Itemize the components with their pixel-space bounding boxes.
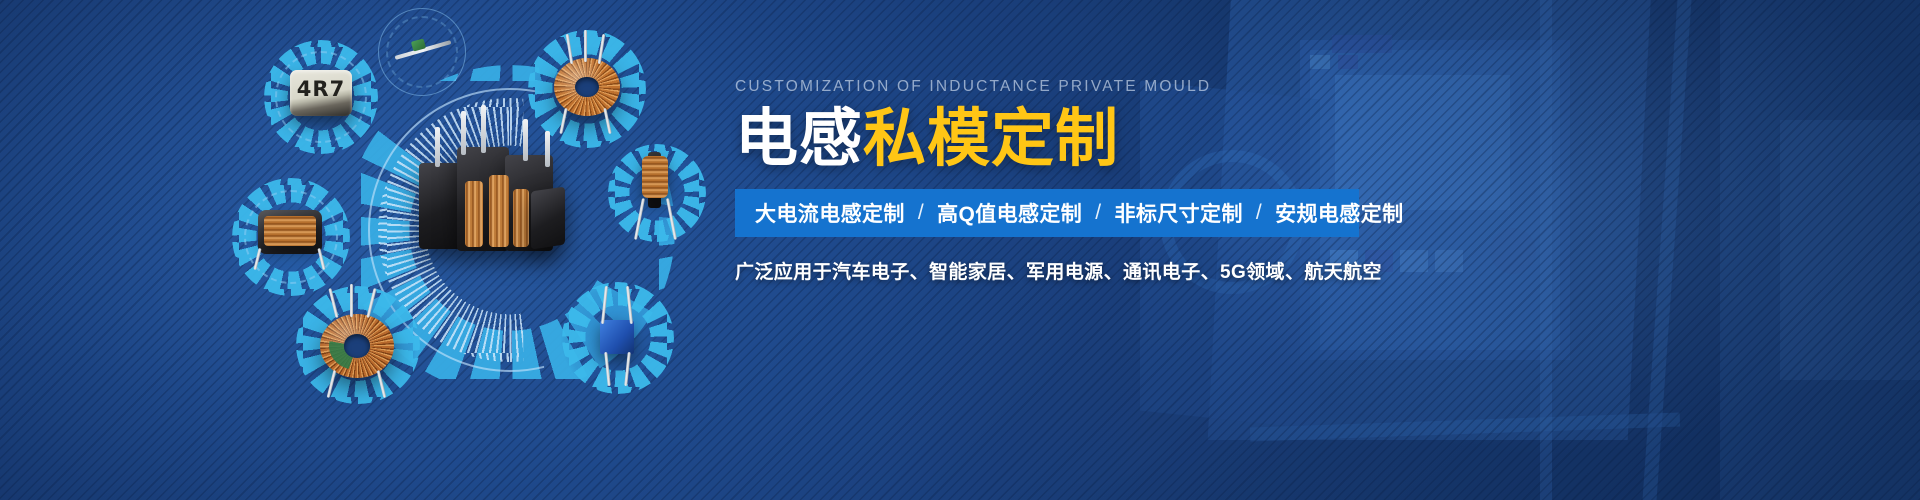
green-toroid-body — [320, 314, 394, 378]
rod-coil — [642, 156, 668, 198]
banner-title-white: 电感 — [735, 104, 863, 174]
promo-banner: 4R7 — [0, 0, 1920, 500]
transformer-pin — [435, 127, 440, 167]
banner-description: 广泛应用于汽车电子、智能家居、军用电源、通讯电子、5G领域、航天航空 — [735, 257, 1375, 284]
transformer-pin — [461, 111, 466, 155]
transformer-pin — [481, 105, 486, 153]
banner-title: 电感私模定制 — [735, 106, 1375, 173]
product-high-current-transformer-cluster — [405, 105, 585, 280]
banner-title-yellow: 私模定制 — [863, 104, 1119, 174]
transformer-pin — [545, 131, 550, 167]
copper-winding — [465, 181, 483, 247]
banner-eyebrow: CUSTOMIZATION OF INDUCTANCE PRIVATE MOUL… — [735, 78, 1375, 96]
product-thin-film-inductor — [378, 8, 466, 96]
feature-list: 大电流电感定制 / 高Q值电感定制 / 非标尺寸定制 / 安规电感定制 — [755, 198, 1404, 228]
copper-winding — [513, 189, 529, 247]
transformer-side-block — [531, 187, 565, 250]
product-green-toroidal-inductor — [296, 286, 420, 404]
drum-coil — [264, 216, 316, 246]
product-drum-core-inductor — [232, 178, 350, 296]
smd-chip-body: 4R7 — [290, 70, 352, 116]
smd-chip-label: 4R7 — [297, 77, 345, 101]
feature-bar: 大电流电感定制 / 高Q值电感定制 / 非标尺寸定制 / 安规电感定制 — [735, 189, 1359, 237]
lead-wire — [584, 30, 587, 62]
feature-item-2[interactable]: 非标尺寸定制 — [1114, 198, 1242, 228]
feature-item-1[interactable]: 高Q值电感定制 — [937, 198, 1082, 228]
feature-item-0[interactable]: 大电流电感定制 — [755, 198, 905, 228]
copper-winding — [489, 175, 509, 247]
transformer-pin — [523, 119, 528, 161]
banner-content: CUSTOMIZATION OF INDUCTANCE PRIVATE MOUL… — [735, 78, 1375, 284]
product-axial-rod-inductor — [604, 140, 710, 246]
product-blue-radial-inductor — [560, 280, 676, 396]
blue-cap-body — [600, 320, 634, 354]
lead-wire — [350, 284, 353, 317]
product-smd-power-inductor: 4R7 — [262, 38, 380, 156]
feature-item-3[interactable]: 安规电感定制 — [1275, 198, 1403, 228]
feature-separator: / — [1082, 201, 1114, 225]
feature-separator: / — [1243, 201, 1275, 225]
feature-separator: / — [905, 201, 937, 225]
